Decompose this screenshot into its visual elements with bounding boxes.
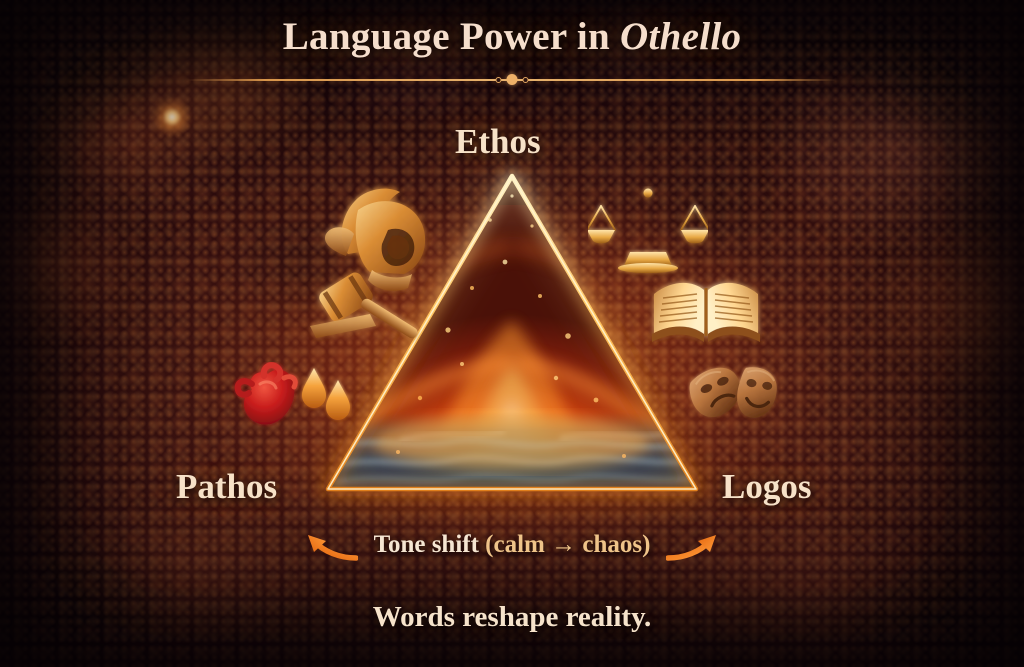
divider-dot-small-right — [523, 77, 529, 83]
heart-and-tears-icon — [232, 362, 352, 434]
vertex-label-pathos: Pathos — [176, 467, 277, 507]
curved-arrow-left-icon — [304, 528, 358, 562]
tagline: Words reshape reality. — [0, 601, 1024, 634]
tone-shift-label: Tone shift — [374, 531, 486, 558]
header: Language Power in Othello — [0, 16, 1024, 87]
tone-shift-caption: Tone shift (calm → chaos) — [0, 528, 1024, 562]
theatre-masks-icon — [684, 360, 784, 426]
divider-dot-small-left — [496, 77, 502, 83]
page-title: Language Power in Othello — [0, 16, 1024, 59]
rhetorical-appeals-triangle — [0, 0, 1024, 667]
divider-dots — [496, 73, 529, 87]
ornamental-divider-icon — [187, 73, 837, 87]
page-title-work: Othello — [620, 15, 741, 58]
vertex-label-ethos: Ethos — [455, 122, 541, 162]
helmet-and-gavel-icon — [296, 176, 446, 346]
poster-canvas: Language Power in Othello — [0, 0, 1024, 667]
vertex-label-logos: Logos — [722, 467, 811, 507]
page-title-main: Language Power in — [283, 15, 620, 58]
tone-shift-text: Tone shift (calm → chaos) — [374, 531, 651, 559]
scales-of-justice-icon — [588, 186, 708, 278]
divider-dot-large — [507, 74, 518, 85]
open-book-icon — [646, 272, 766, 352]
curved-arrow-right-icon — [666, 528, 720, 562]
tone-shift-paren: (calm → chaos) — [485, 531, 650, 558]
